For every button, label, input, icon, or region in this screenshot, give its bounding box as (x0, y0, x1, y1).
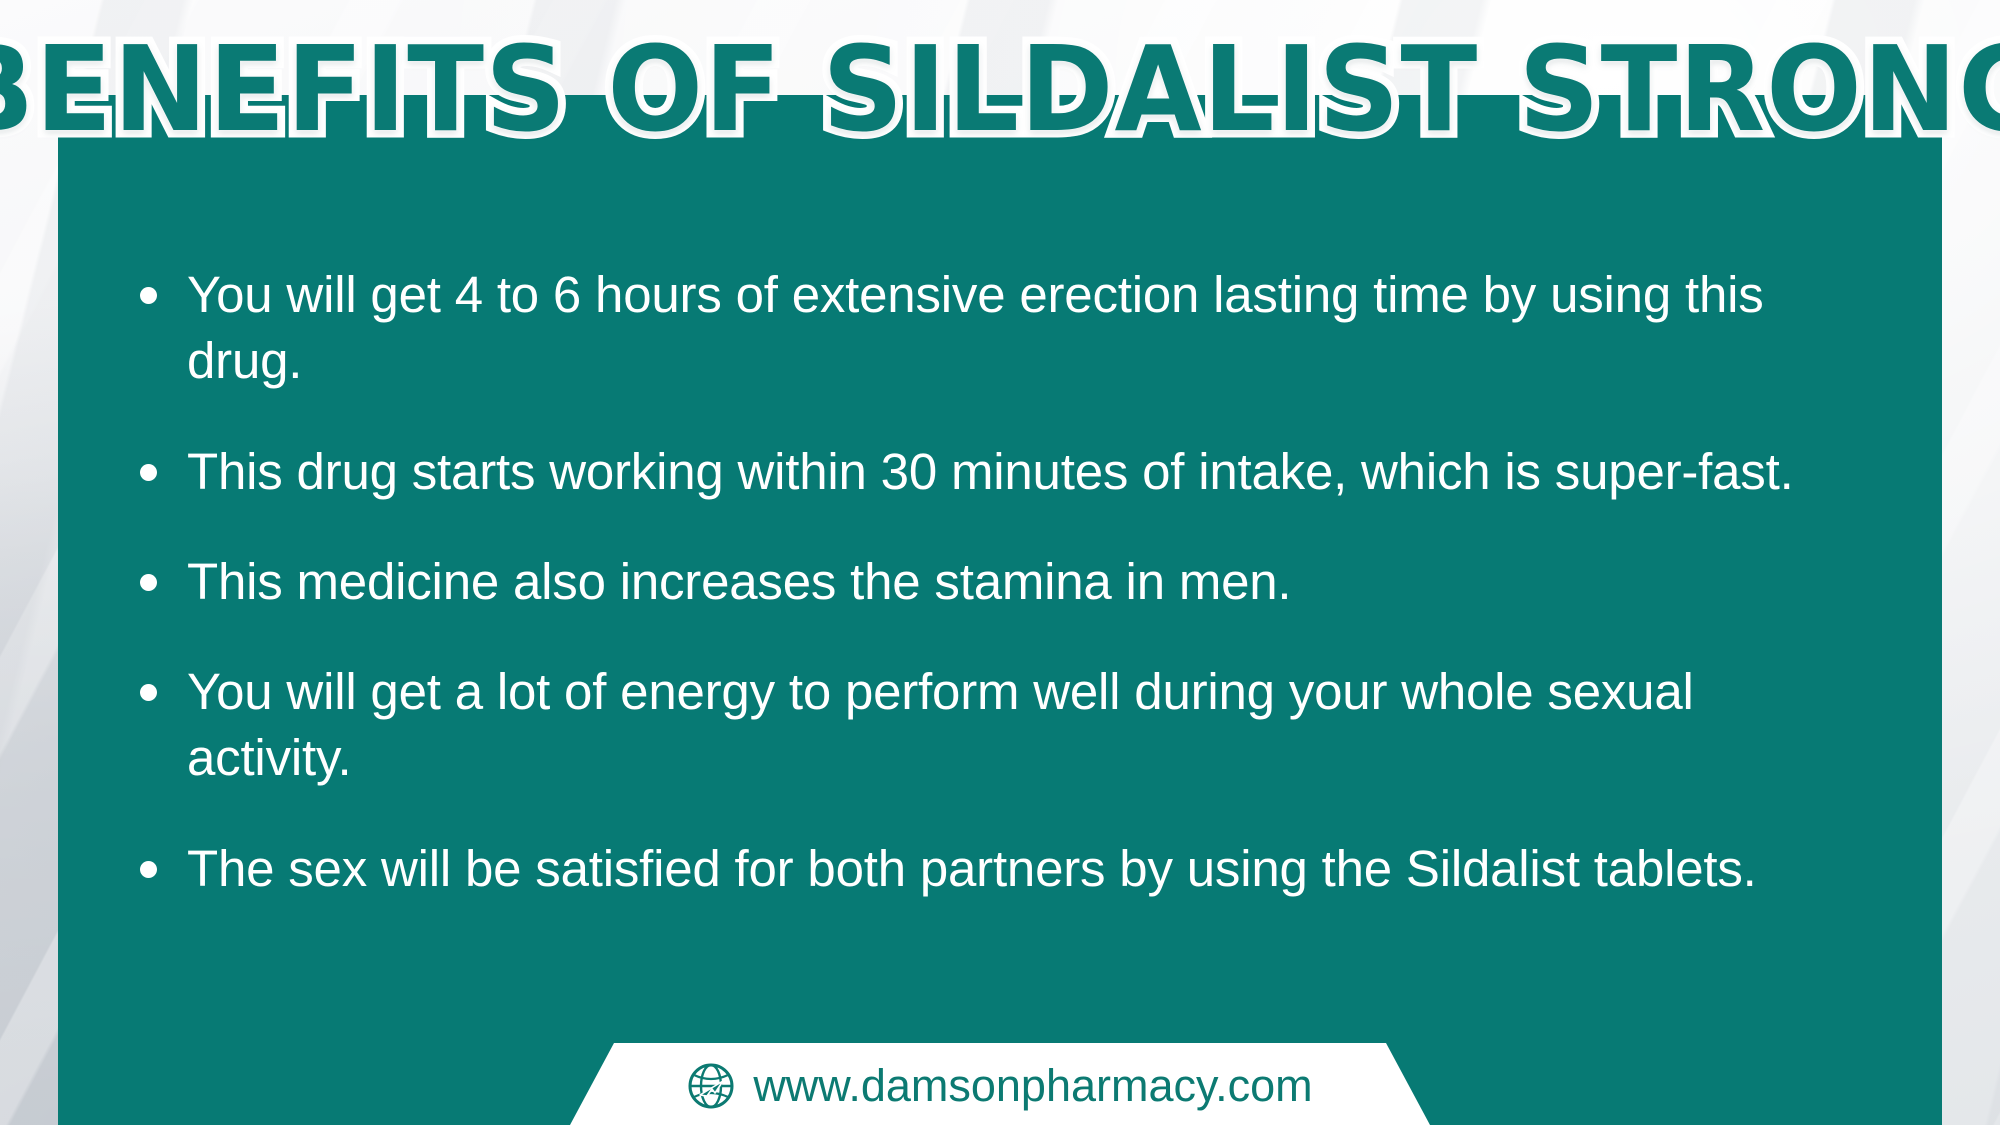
list-item-label: The sex will be satisfied for both partn… (187, 836, 1757, 902)
list-item-label: You will get a lot of energy to perform … (187, 659, 1820, 792)
footer-content: www.damsonpharmacy.com (687, 1056, 1312, 1112)
bullet-dot-icon (140, 464, 157, 481)
page-title: BENEFITS OF SILDALIST STRONG (0, 30, 2000, 148)
website-url-label[interactable]: www.damsonpharmacy.com (753, 1060, 1312, 1112)
list-item-label: This medicine also increases the stamina… (187, 549, 1291, 615)
poster-canvas: BENEFITS OF SILDALIST STRONG You will ge… (0, 0, 2000, 1125)
list-item: This medicine also increases the stamina… (140, 549, 1820, 615)
footer-website-banner: www.damsonpharmacy.com (570, 1043, 1430, 1125)
benefits-list: You will get 4 to 6 hours of extensive e… (140, 262, 1820, 902)
bullet-dot-icon (140, 684, 157, 701)
list-item: You will get 4 to 6 hours of extensive e… (140, 262, 1820, 395)
list-item: The sex will be satisfied for both partn… (140, 836, 1820, 902)
list-item-label: This drug starts working within 30 minut… (187, 439, 1794, 505)
list-item-label: You will get 4 to 6 hours of extensive e… (187, 262, 1820, 395)
list-item: You will get a lot of energy to perform … (140, 659, 1820, 792)
bullet-dot-icon (140, 861, 157, 878)
bullet-dot-icon (140, 287, 157, 304)
globe-icon (687, 1062, 735, 1110)
list-item: This drug starts working within 30 minut… (140, 439, 1820, 505)
bullet-dot-icon (140, 574, 157, 591)
